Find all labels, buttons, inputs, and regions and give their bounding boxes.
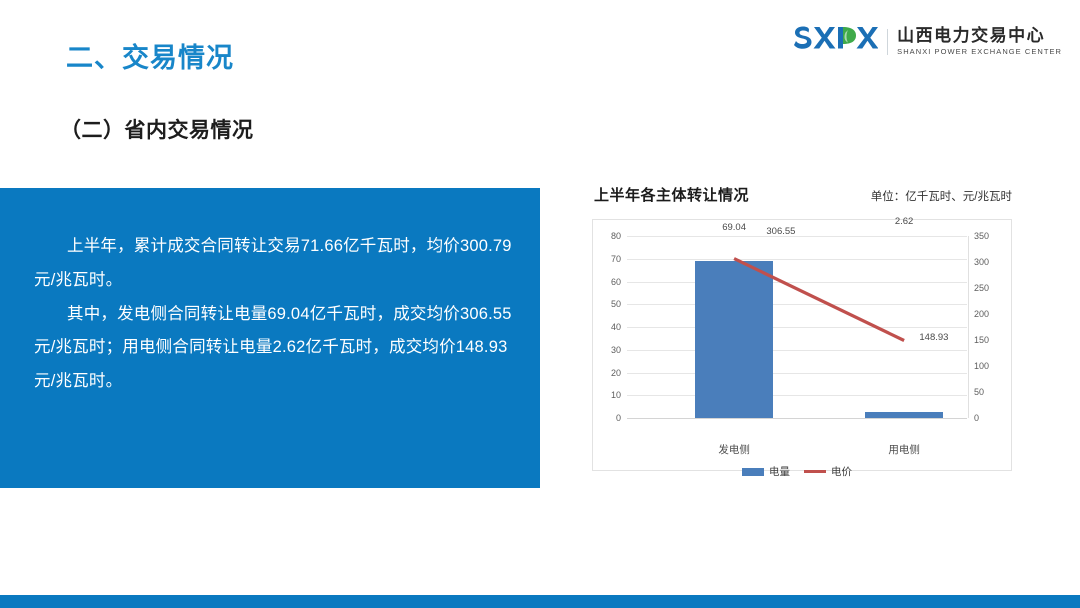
right-axis-tick-300: 300 <box>974 257 989 267</box>
legend-item-price[interactable]: 电价 <box>804 464 852 479</box>
right-axis-tick-250: 250 <box>974 283 989 293</box>
bar-label-generation: 69.04 <box>722 222 746 233</box>
legend-label-volume: 电量 <box>769 464 790 479</box>
page-title: 二、交易情况 <box>66 36 234 75</box>
subsection-title: （二）省内交易情况 <box>60 114 254 144</box>
brand-name-cn: 山西电力交易中心 <box>897 27 1062 44</box>
chart-unit-label: 单位：亿千瓦时、元/兆瓦时 <box>871 188 1012 204</box>
sxpx-logomark-icon <box>794 26 878 57</box>
legend-item-volume[interactable]: 电量 <box>742 464 790 479</box>
left-axis-tick-60: 60 <box>611 277 621 287</box>
right-axis-line <box>968 236 969 418</box>
left-axis-tick-0: 0 <box>616 413 621 423</box>
left-axis-tick-30: 30 <box>611 345 621 355</box>
transfer-chart-block: 上半年各主体转让情况 单位：亿千瓦时、元/兆瓦时 0 10 20 30 40 5… <box>592 184 1016 471</box>
chart-title: 上半年各主体转让情况 <box>594 184 749 205</box>
line-label-consumption-price: 148.93 <box>919 332 948 343</box>
summary-paragraph-1: 上半年，累计成交合同转让交易71.66亿千瓦时，均价300.79元/兆瓦时。 <box>0 188 540 298</box>
x-axis-label-consumption-side: 用电侧 <box>888 442 920 457</box>
right-axis-tick-50: 50 <box>974 387 984 397</box>
right-axis-tick-350: 350 <box>974 231 989 241</box>
brand-logo: 山西电力交易中心 SHANXI POWER EXCHANGE CENTER <box>794 26 1062 57</box>
summary-paragraph-2: 其中，发电侧合同转让电量69.04亿千瓦时，成交均价306.55元/兆瓦时；用电… <box>0 298 540 399</box>
left-axis-tick-10: 10 <box>611 390 621 400</box>
legend-label-price: 电价 <box>831 464 852 479</box>
legend-bar-swatch-icon <box>742 468 764 476</box>
chart-frame: 0 10 20 30 40 50 60 70 80 0 50 100 150 2… <box>592 219 1012 471</box>
line-label-generation-price: 306.55 <box>766 226 795 237</box>
brand-name-en: SHANXI POWER EXCHANGE CENTER <box>897 48 1062 56</box>
x-axis-label-generation-side: 发电侧 <box>718 442 750 457</box>
brand-names: 山西电力交易中心 SHANXI POWER EXCHANGE CENTER <box>897 27 1062 56</box>
chart-plot-area: 0 10 20 30 40 50 60 70 80 0 50 100 150 2… <box>627 236 967 418</box>
right-axis-tick-200: 200 <box>974 309 989 319</box>
left-axis-tick-40: 40 <box>611 322 621 332</box>
footer-bar <box>0 595 1080 608</box>
bar-label-consumption: 2.62 <box>895 216 914 227</box>
summary-panel: 上半年，累计成交合同转让交易71.66亿千瓦时，均价300.79元/兆瓦时。 其… <box>0 188 540 488</box>
left-axis-tick-50: 50 <box>611 299 621 309</box>
left-axis-tick-80: 80 <box>611 231 621 241</box>
price-line-series <box>627 236 967 418</box>
right-axis-tick-150: 150 <box>974 335 989 345</box>
logo-divider <box>887 29 888 55</box>
chart-header: 上半年各主体转让情况 单位：亿千瓦时、元/兆瓦时 <box>592 184 1016 205</box>
chart-legend: 电量 电价 <box>627 464 967 479</box>
left-axis-tick-70: 70 <box>611 254 621 264</box>
right-axis-tick-0: 0 <box>974 413 979 423</box>
legend-line-swatch-icon <box>804 470 826 473</box>
left-axis-tick-20: 20 <box>611 368 621 378</box>
gridline-0 <box>627 418 967 419</box>
right-axis-tick-100: 100 <box>974 361 989 371</box>
